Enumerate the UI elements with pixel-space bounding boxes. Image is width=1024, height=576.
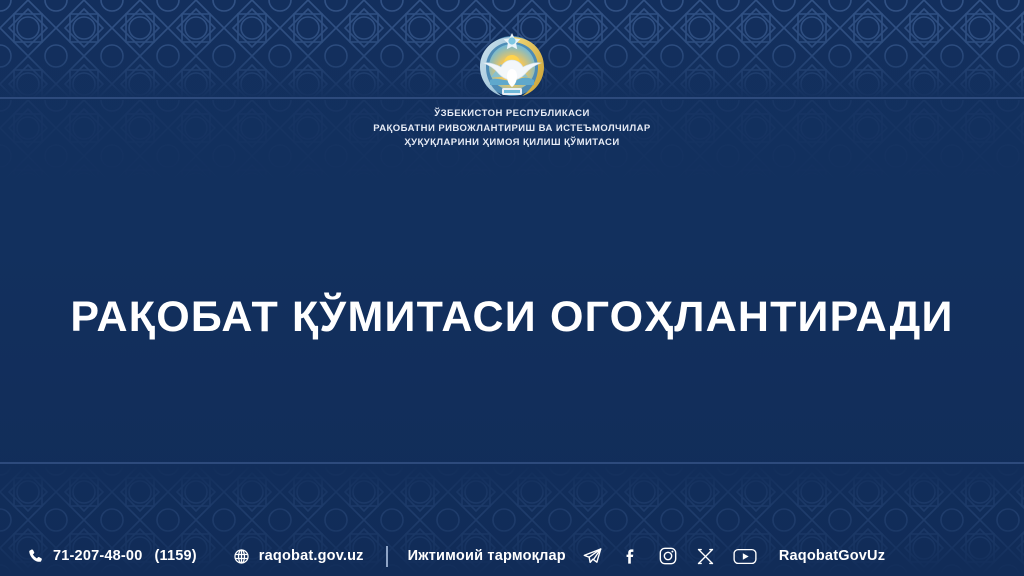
slide-header: ЎЗБЕКИСТОН РЕСПУБЛИКАСИ РАҚОБАТНИ РИВОЖЛ…	[0, 0, 1024, 151]
contact-footer-bar: 71-207-48-00 (1159) raqobat.gov.uz Ижтим…	[0, 536, 1024, 576]
globe-icon	[233, 548, 250, 565]
footer-divider-rule	[0, 462, 1024, 464]
instagram-icon[interactable]	[658, 546, 678, 566]
social-icon-list	[582, 546, 775, 567]
footer-vertical-divider	[386, 546, 388, 567]
x-twitter-icon[interactable]	[696, 547, 715, 566]
organization-name: ЎЗБЕКИСТОН РЕСПУБЛИКАСИ РАҚОБАТНИ РИВОЖЛ…	[373, 107, 650, 151]
phone-icon	[27, 548, 44, 565]
phone-contact[interactable]: 71-207-48-00 (1159)	[27, 548, 197, 565]
website-link[interactable]: raqobat.gov.uz	[233, 548, 364, 565]
page-title: РАҚОБАТ ҚЎМИТАСИ ОГОҲЛАНТИРАДИ	[70, 291, 953, 343]
youtube-icon[interactable]	[733, 547, 757, 566]
phone-number-text: 71-207-48-00	[53, 548, 142, 564]
social-networks-label: Ижтимоий тармоқлар	[408, 548, 566, 564]
telegram-icon[interactable]	[582, 546, 603, 567]
main-title-container: РАҚОБАТ ҚЎМИТАСИ ОГОҲЛАНТИРАДИ	[0, 262, 1024, 372]
social-handle-text: RaqobatGovUz	[779, 548, 885, 564]
phone-extension-text: (1159)	[154, 548, 196, 564]
organization-line-3: ҲУҚУҚЛАРИНИ ҲИМОЯ ҚИЛИШ ҚЎМИТАСИ	[373, 136, 650, 151]
uzbekistan-state-emblem-icon	[475, 33, 549, 99]
presentation-slide: ЎЗБЕКИСТОН РЕСПУБЛИКАСИ РАҚОБАТНИ РИВОЖЛ…	[0, 0, 1024, 576]
website-url-text: raqobat.gov.uz	[259, 548, 364, 564]
organization-line-2: РАҚОБАТНИ РИВОЖЛАНТИРИШ ВА ИСТЕЪМОЛЧИЛАР	[373, 122, 650, 137]
facebook-icon[interactable]	[621, 547, 640, 566]
organization-line-1: ЎЗБЕКИСТОН РЕСПУБЛИКАСИ	[373, 107, 650, 122]
